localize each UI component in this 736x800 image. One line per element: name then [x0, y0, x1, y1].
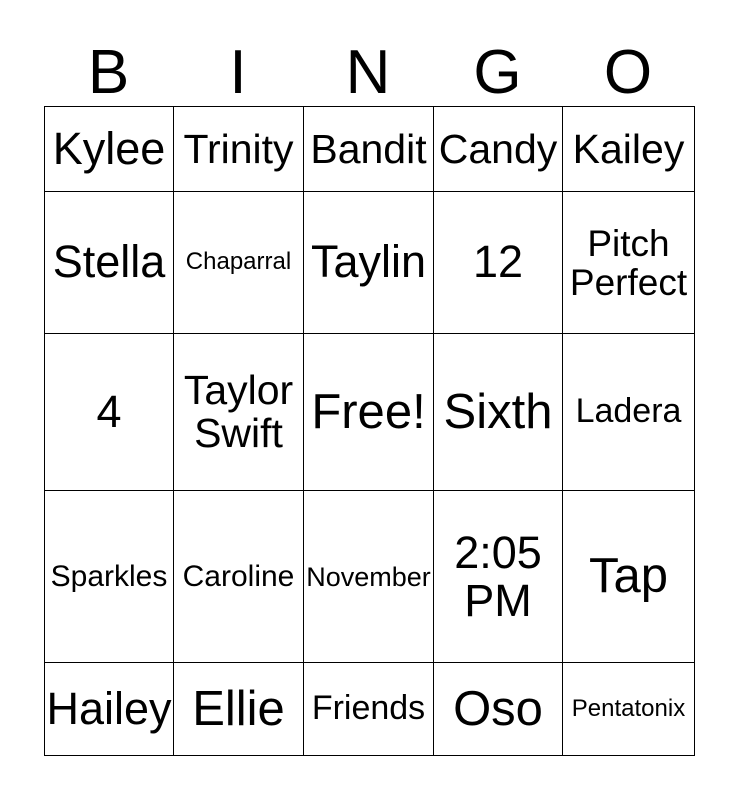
bingo-cell-text: Kailey [564, 128, 693, 171]
bingo-card: B I N G O Kylee Trinity Bandit Candy Kai… [0, 0, 736, 800]
header-letter-g: G [433, 42, 562, 106]
bingo-cell[interactable]: 2:05 PM [434, 491, 563, 663]
bingo-cell[interactable]: Tap [563, 491, 695, 663]
bingo-cell[interactable]: Caroline [174, 491, 304, 663]
bingo-cell-text: 12 [435, 239, 561, 286]
bingo-row: Kylee Trinity Bandit Candy Kailey [45, 107, 695, 192]
bingo-cell-text: Trinity [175, 128, 302, 171]
bingo-cell[interactable]: Hailey [45, 663, 174, 756]
bingo-cell-text: November [305, 563, 432, 591]
bingo-cell[interactable]: Ladera [563, 334, 695, 491]
bingo-cell-text: Kylee [46, 126, 172, 173]
bingo-cell[interactable]: Candy [434, 107, 563, 192]
bingo-cell-text: 2:05 PM [435, 529, 561, 624]
bingo-cell[interactable]: Oso [434, 663, 563, 756]
bingo-cell[interactable]: Trinity [174, 107, 304, 192]
bingo-cell-text: Friends [305, 691, 432, 726]
bingo-cell[interactable]: Friends [304, 663, 434, 756]
bingo-cell-text: Pitch Perfect [564, 224, 693, 302]
bingo-cell[interactable]: Ellie [174, 663, 304, 756]
bingo-cell-text: Taylin [305, 239, 432, 286]
bingo-cell[interactable]: Sixth [434, 334, 563, 491]
bingo-row: Stella Chaparral Taylin 12 Pitch Perfect [45, 192, 695, 334]
bingo-grid: Kylee Trinity Bandit Candy Kailey Stella… [44, 106, 695, 756]
header-letter-b: B [44, 42, 173, 106]
bingo-cell[interactable]: 4 [45, 334, 174, 491]
bingo-cell[interactable]: 12 [434, 192, 563, 334]
bingo-row: Hailey Ellie Friends Oso Pentatonix [45, 663, 695, 756]
bingo-cell[interactable]: Pentatonix [563, 663, 695, 756]
bingo-cell-text: Ellie [175, 684, 302, 735]
bingo-row: Sparkles Caroline November 2:05 PM Tap [45, 491, 695, 663]
bingo-cell[interactable]: Taylin [304, 192, 434, 334]
bingo-cell[interactable]: Pitch Perfect [563, 192, 695, 334]
bingo-cell-text: Hailey [46, 686, 172, 733]
bingo-cell-text: Pentatonix [564, 697, 693, 722]
bingo-cell[interactable]: November [304, 491, 434, 663]
bingo-cell[interactable]: Kylee [45, 107, 174, 192]
bingo-cell-text: Sparkles [46, 561, 172, 592]
bingo-cell-text: Ladera [564, 394, 693, 429]
bingo-cell-text: 4 [46, 389, 172, 436]
bingo-cell-text: Sixth [435, 387, 561, 438]
bingo-cell[interactable]: Taylor Swift [174, 334, 304, 491]
header-letter-o: O [562, 42, 694, 106]
bingo-cell[interactable]: Chaparral [174, 192, 304, 334]
bingo-cell-text: Tap [564, 551, 693, 602]
bingo-cell-text: Candy [435, 128, 561, 171]
header-letter-i: I [173, 42, 303, 106]
bingo-cell-text: Stella [46, 239, 172, 286]
bingo-cell-text: Chaparral [175, 250, 302, 275]
bingo-cell[interactable]: Sparkles [45, 491, 174, 663]
bingo-row: 4 Taylor Swift Free! Sixth Ladera [45, 334, 695, 491]
bingo-cell[interactable]: Stella [45, 192, 174, 334]
bingo-cell-text: Oso [435, 684, 561, 735]
bingo-cell-text: Free! [305, 387, 432, 438]
bingo-cell-free[interactable]: Free! [304, 334, 434, 491]
bingo-cell-text: Taylor Swift [175, 369, 302, 456]
bingo-header-row: B I N G O [44, 22, 694, 106]
bingo-cell-text: Caroline [175, 561, 302, 592]
header-letter-n: N [303, 42, 433, 106]
bingo-cell[interactable]: Bandit [304, 107, 434, 192]
bingo-cell[interactable]: Kailey [563, 107, 695, 192]
bingo-cell-text: Bandit [305, 128, 432, 171]
